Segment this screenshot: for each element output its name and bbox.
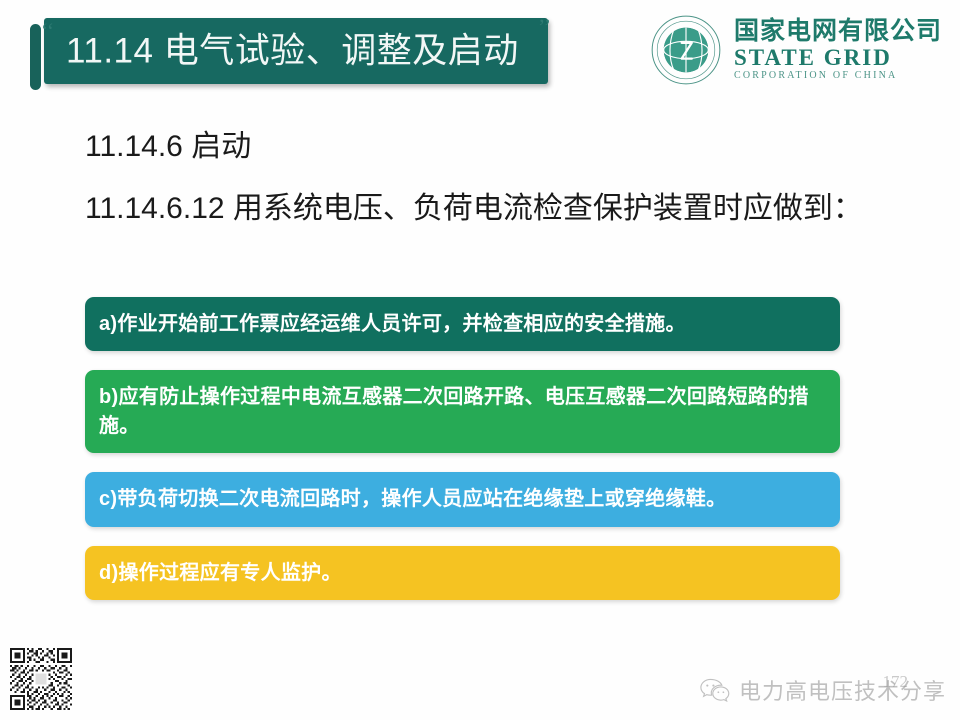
callout-item-c: c)带负荷切换二次电流回路时，操作人员应站在绝缘垫上或穿绝缘鞋。 xyxy=(85,472,840,526)
logo-wordmark: 国家电网有限公司 STATE GRID CORPORATION OF CHINA xyxy=(734,18,942,82)
qr-code xyxy=(10,648,72,710)
state-grid-globe-emblem xyxy=(650,14,722,86)
body-text-block: 11.14.6 启动 11.14.6.12 用系统电压、负荷电流检查保护装置时应… xyxy=(85,132,925,224)
logo-company-en: STATE GRID xyxy=(734,46,942,70)
logo-company-cn: 国家电网有限公司 xyxy=(734,18,942,46)
logo-company-sub: CORPORATION OF CHINA xyxy=(734,70,942,82)
page-title: 11.14 电气试验、调整及启动 xyxy=(66,34,519,69)
quote-open-icon: ‘‘ xyxy=(41,20,54,42)
callout-list: a)作业开始前工作票应经运维人员许可，并检查相应的安全措施。 b)应有防止操作过… xyxy=(85,297,840,600)
watermark-text: 电力高电压技术分享 xyxy=(739,674,946,706)
section-heading: 11.14.6 启动 xyxy=(85,132,925,162)
state-grid-logo: 国家电网有限公司 STATE GRID CORPORATION OF CHINA xyxy=(650,14,942,86)
title-accent-bar xyxy=(30,24,41,90)
callout-item-d: d)操作过程应有专人监护。 xyxy=(85,546,840,600)
title-plate: 11.14 电气试验、调整及启动 xyxy=(44,18,548,84)
quote-close-icon: ’’ xyxy=(538,16,551,38)
callout-item-b: b)应有防止操作过程中电流互感器二次回路开路、电压互感器二次回路短路的措施。 xyxy=(85,370,840,453)
wechat-icon xyxy=(700,677,730,703)
watermark: 电力高电压技术分享 xyxy=(700,674,946,706)
section-subheading: 11.14.6.12 用系统电压、负荷电流检查保护装置时应做到： xyxy=(85,194,925,224)
slide-title-region: 11.14 电气试验、调整及启动 ‘‘ ’’ xyxy=(30,18,550,90)
callout-item-a: a)作业开始前工作票应经运维人员许可，并检查相应的安全措施。 xyxy=(85,297,840,351)
